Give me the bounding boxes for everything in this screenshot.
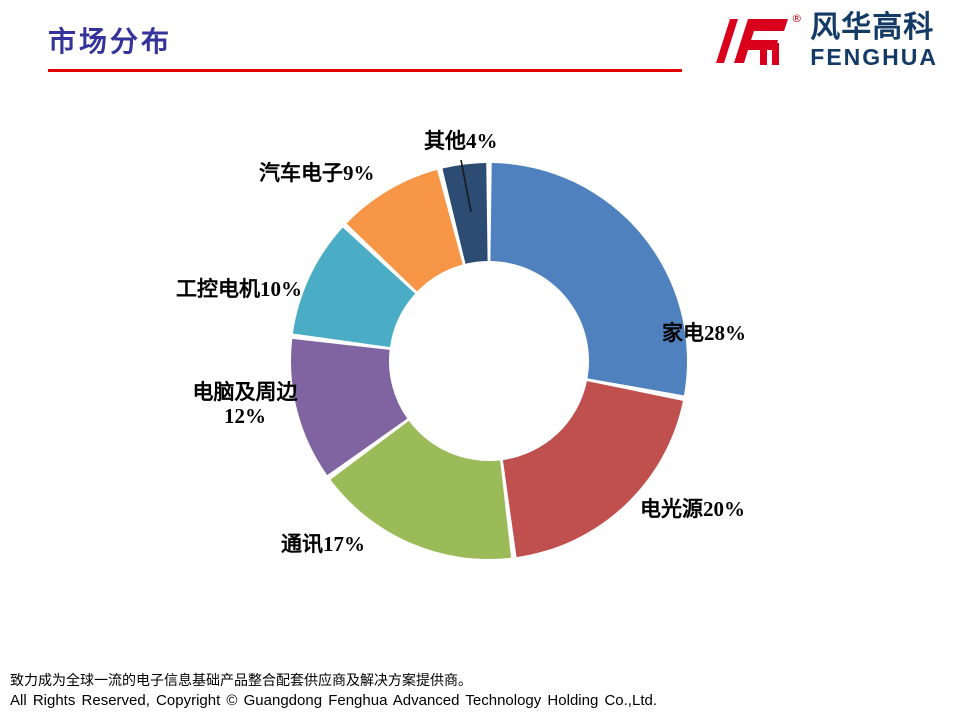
market-distribution-doughnut-chart: 家电28% 电光源20% 通讯17% 电脑及周边 12% 工控电机10% 汽车电… bbox=[0, 90, 960, 635]
slice-label-diannao-line1: 电脑及周边 bbox=[193, 380, 298, 404]
slice-label-gongkong: 工控电机10% bbox=[176, 278, 302, 302]
slice-label-qiche: 汽车电子9% bbox=[259, 162, 375, 186]
logo-wordmark: 风华高科 FENGHUA bbox=[810, 13, 938, 69]
slice-label-dianguangyuan: 电光源20% bbox=[640, 498, 745, 522]
brand-logo: ® 风华高科 FENGHUA bbox=[708, 8, 938, 74]
slice-label-jiadian: 家电28% bbox=[662, 322, 746, 346]
slice-label-qita: 其他4% bbox=[424, 130, 498, 154]
slice-label-diannao-line2: 12% bbox=[224, 404, 266, 428]
slide-header: 市场分布 ® 风华高科 FENGHUA bbox=[0, 0, 960, 84]
slide-footer: 致力成为全球一流的电子信息基础产品整合配套供应商及解决方案提供商。 All Ri… bbox=[0, 670, 960, 720]
slice-label-diannao: 电脑及周边 12% bbox=[182, 381, 308, 428]
registered-trademark-icon: ® bbox=[791, 13, 802, 24]
footer-copyright: All Rights Reserved, Copyright © Guangdo… bbox=[10, 690, 960, 712]
logo-chinese-name: 风华高科 bbox=[810, 13, 938, 43]
title-underline-rule bbox=[48, 69, 682, 72]
page-title: 市场分布 bbox=[48, 20, 172, 60]
doughnut-slice-group bbox=[291, 163, 687, 559]
doughnut-slice-电光源 bbox=[503, 381, 683, 557]
doughnut-svg bbox=[0, 90, 960, 635]
slice-label-tongxun: 通讯17% bbox=[281, 533, 365, 557]
doughnut-slice-家电 bbox=[490, 163, 687, 395]
footer-chinese-tagline: 致力成为全球一流的电子信息基础产品整合配套供应商及解决方案提供商。 bbox=[10, 670, 960, 690]
logo-english-name: FENGHUA bbox=[810, 46, 938, 69]
fenghua-fh-mark-icon: ® bbox=[708, 13, 800, 69]
